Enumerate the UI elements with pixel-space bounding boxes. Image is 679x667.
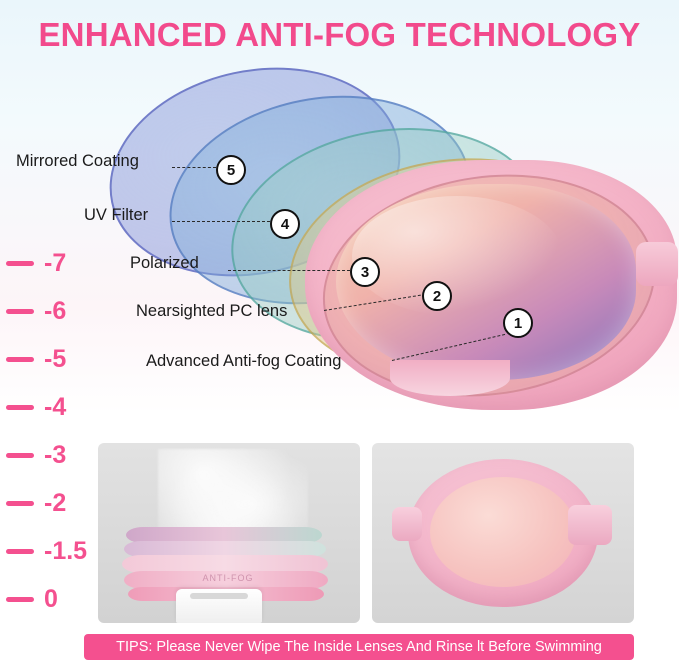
diopter-row: -4 [6,394,110,420]
goggle-inner-lens [430,477,576,587]
dash-icon [6,597,34,602]
dash-icon [6,405,34,410]
strap-clip [636,242,678,286]
goggle-strap-right [568,505,612,545]
diopter-value: -6 [44,299,66,324]
diopter-value: -7 [44,251,66,276]
diopter-scale: -7 -6 -5 -4 -3 -2 -1.5 0 [0,250,110,620]
dash-icon [6,549,34,554]
dash-icon [6,501,34,506]
product-infographic: ENHANCED ANTI-FOG TECHNOLOGY -7 -6 -5 -4 [0,0,679,667]
diopter-row: -7 [6,250,110,276]
steam-machine-slot [190,593,248,599]
diopter-value: -4 [44,395,66,420]
dash-icon [6,453,34,458]
panel-goggle-top-view [372,443,634,623]
dash-icon [6,357,34,362]
nose-bridge [390,360,510,396]
panel-anti-fog-demo: ANTI-FOG [98,443,360,623]
goggle-strap-left [392,507,422,541]
callout-label-nearsighted-pc-lens: Nearsighted PC lens [136,302,287,321]
lens-layer-badge-4: 4 [270,209,300,239]
callout-label-advanced-anti-fog-coating: Advanced Anti-fog Coating [146,352,341,371]
diopter-row: -3 [6,442,110,468]
lens-layer-badge-2: 2 [422,281,452,311]
leader-line-3 [228,270,350,271]
lens-layer-badge-1: 1 [503,308,533,338]
diopter-row: -1.5 [6,538,110,564]
diopter-row: -5 [6,346,110,372]
leader-line-4 [172,221,270,222]
tips-banner: TIPS: Please Never Wipe The Inside Lense… [84,634,634,660]
diopter-row: -6 [6,298,110,324]
diopter-row: 0 [6,586,110,612]
diopter-value: -2 [44,491,66,516]
lens-layer-badge-3: 3 [350,257,380,287]
dash-icon [6,261,34,266]
diopter-row: -2 [6,490,110,516]
lens-highlight [352,196,562,316]
diopter-value: 0 [44,587,58,612]
diopter-value: -5 [44,347,66,372]
diopter-value: -3 [44,443,66,468]
dash-icon [6,309,34,314]
callout-label-polarized: Polarized [130,254,199,273]
callout-label-mirrored-coating: Mirrored Coating [16,152,139,171]
page-title: ENHANCED ANTI-FOG TECHNOLOGY [0,16,679,54]
panel-brand-text: ANTI-FOG [138,573,318,583]
lens-layer-badge-5: 5 [216,155,246,185]
callout-label-uv-filter: UV Filter [84,206,148,225]
goggle-illustration [90,60,679,440]
leader-line-5 [172,167,216,168]
diopter-value: -1.5 [44,539,87,564]
